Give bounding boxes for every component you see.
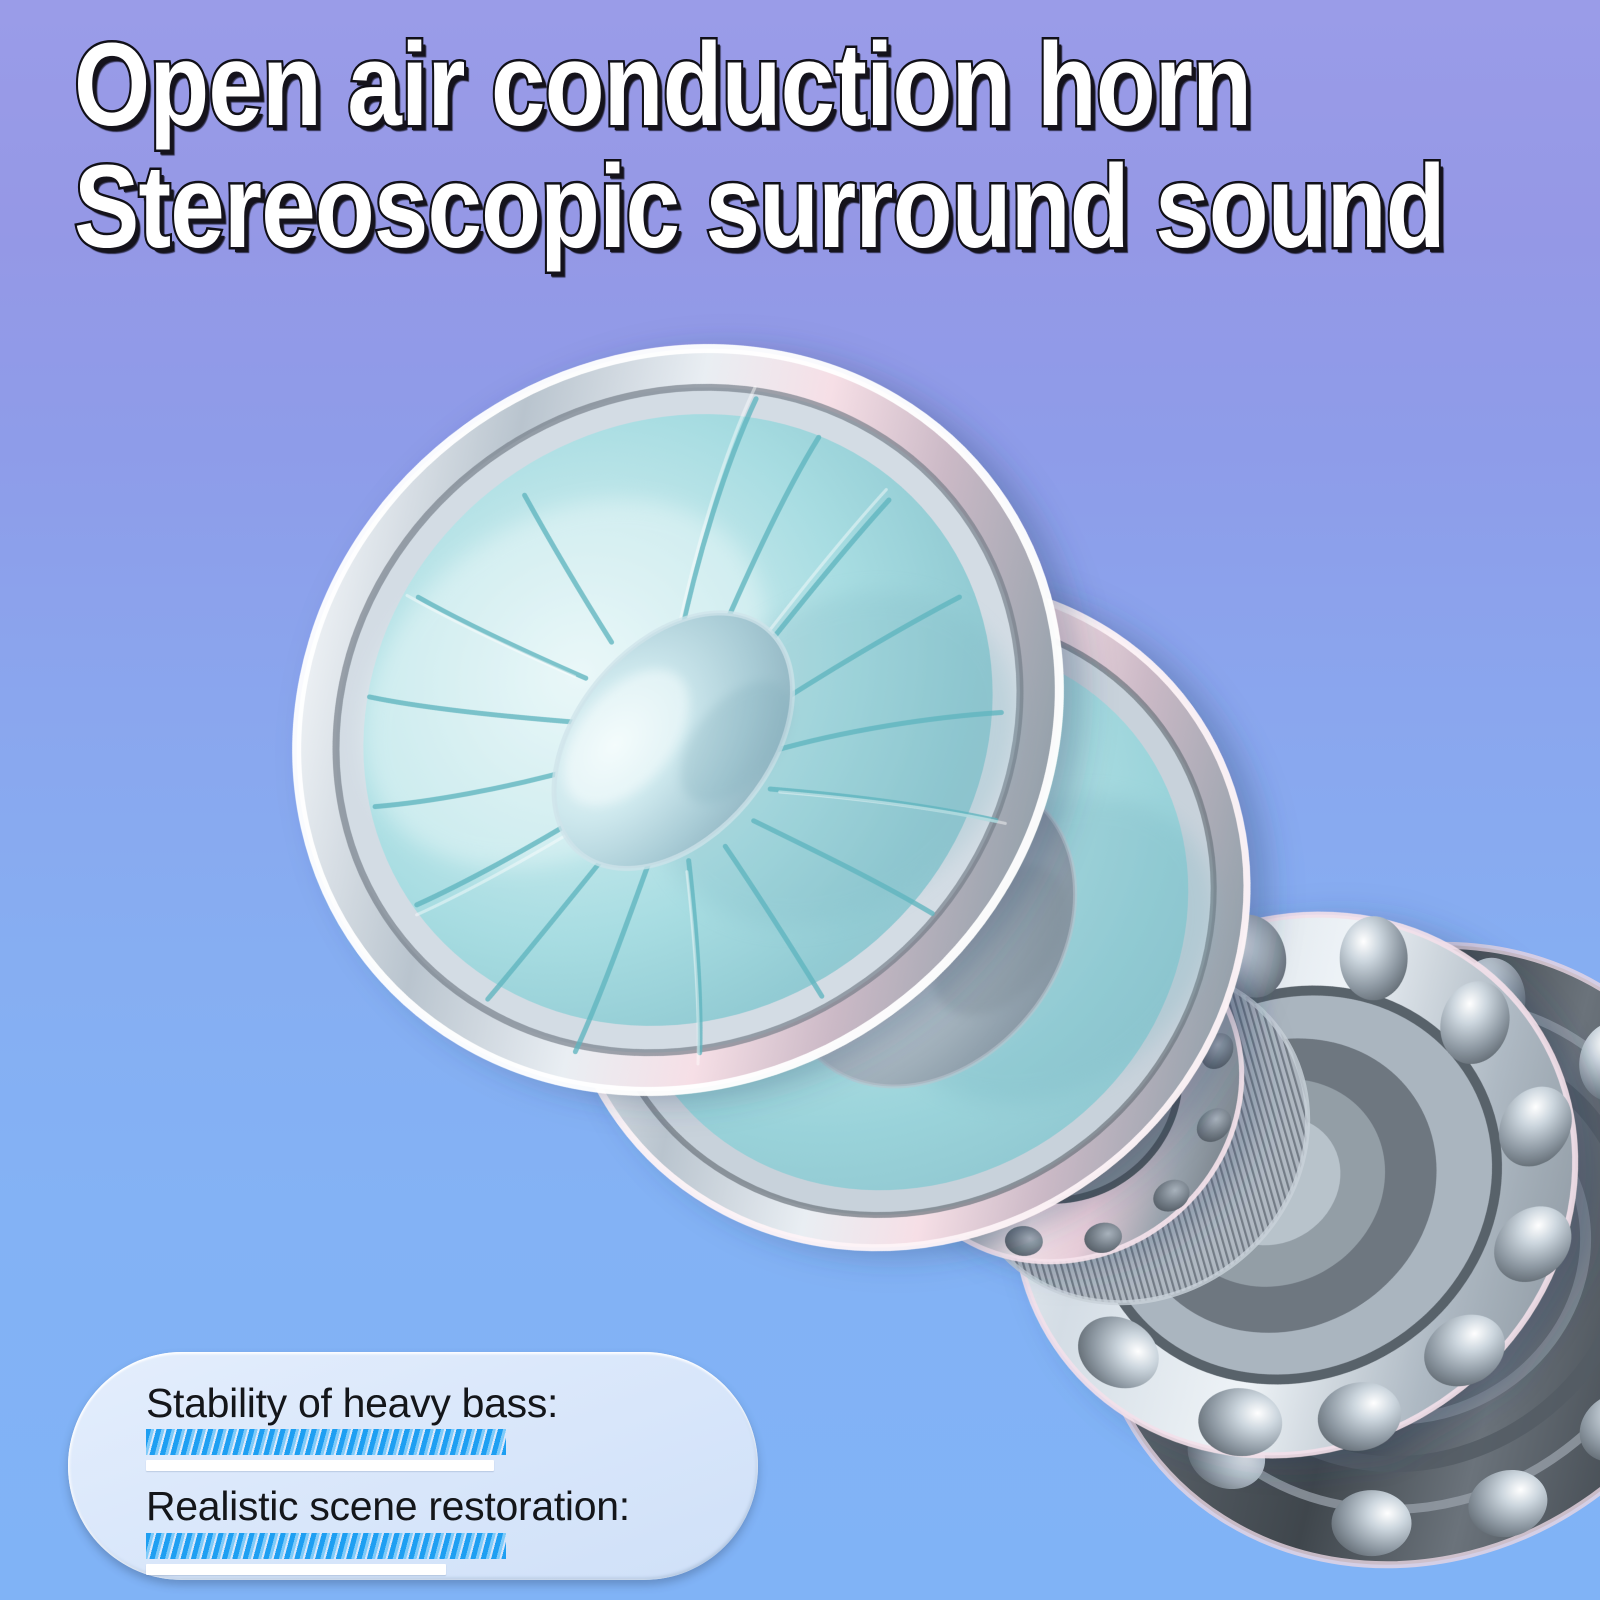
spec-label-scene: Realistic scene restoration: — [146, 1485, 758, 1528]
spec-meter-ticks-bass — [146, 1429, 506, 1455]
spec-label-bass: Stability of heavy bass: — [146, 1382, 758, 1425]
promo-banner: Open air conduction horn Stereoscopic su… — [0, 0, 1600, 1600]
spec-meter-track-bass — [146, 1460, 494, 1471]
spec-meter-ticks-scene — [146, 1533, 506, 1559]
spec-meter-scene — [146, 1533, 758, 1575]
spec-panel: Stability of heavy bass: Realistic scene… — [68, 1352, 758, 1580]
spec-meter-bass — [146, 1429, 758, 1471]
spec-meter-track-scene — [146, 1564, 446, 1575]
spec-row-scene: Realistic scene restoration: — [146, 1485, 758, 1574]
spec-row-bass: Stability of heavy bass: — [146, 1382, 758, 1471]
